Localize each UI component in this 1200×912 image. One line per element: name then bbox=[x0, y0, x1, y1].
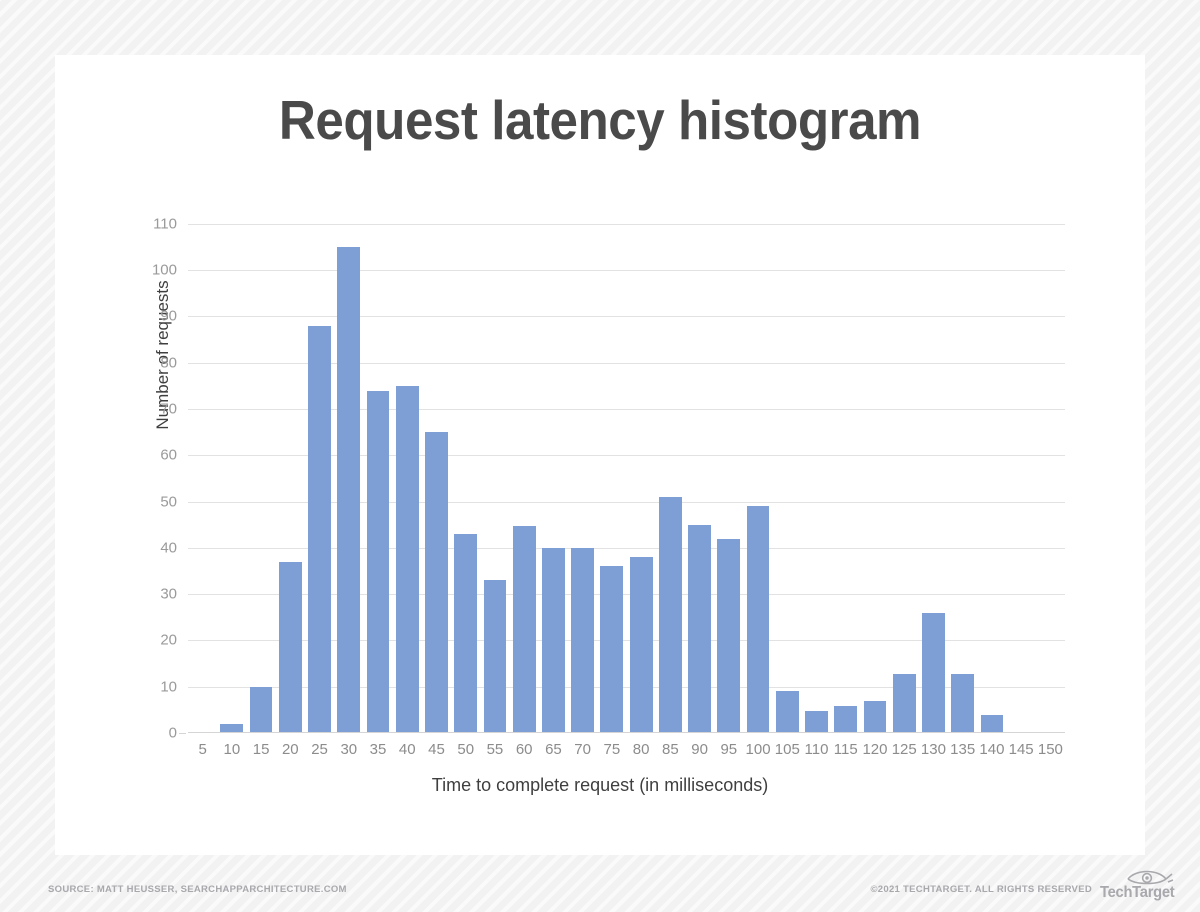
eye-icon bbox=[1126, 866, 1174, 886]
y-tick-label: 10 bbox=[160, 678, 177, 695]
y-tick-label: 0 bbox=[169, 725, 177, 742]
y-tick-label: 90 bbox=[160, 308, 177, 325]
x-tick-label: 145 bbox=[1009, 741, 1034, 758]
y-tick-label: 60 bbox=[160, 447, 177, 464]
x-tick-label: 120 bbox=[862, 741, 887, 758]
page-title: Request latency histogram bbox=[93, 88, 1107, 152]
bar bbox=[396, 386, 419, 733]
y-tick-label: 50 bbox=[160, 493, 177, 510]
bar bbox=[425, 432, 448, 733]
bar bbox=[513, 526, 536, 733]
x-tick-label: 25 bbox=[311, 741, 328, 758]
bar bbox=[250, 687, 273, 733]
x-tick-label: 5 bbox=[198, 741, 206, 758]
x-tick-label: 30 bbox=[340, 741, 357, 758]
bar bbox=[542, 548, 565, 733]
x-axis-title: Time to complete request (in millisecond… bbox=[55, 775, 1145, 796]
y-tick-label: 20 bbox=[160, 632, 177, 649]
bar bbox=[367, 391, 390, 733]
bar bbox=[484, 580, 507, 733]
x-tick-label: 75 bbox=[604, 741, 621, 758]
bar bbox=[805, 711, 828, 733]
logo-wordmark: TechTarget bbox=[1100, 884, 1174, 902]
x-tick-label: 70 bbox=[574, 741, 591, 758]
x-tick-label: 50 bbox=[457, 741, 474, 758]
x-tick-label: 95 bbox=[720, 741, 737, 758]
y-tick-mark bbox=[179, 733, 186, 734]
bar bbox=[776, 691, 799, 733]
y-tick-label: 100 bbox=[152, 262, 177, 279]
x-tick-label: 150 bbox=[1038, 741, 1063, 758]
bar bbox=[893, 674, 916, 733]
bar bbox=[308, 326, 331, 733]
techtarget-logo: TechTarget bbox=[1100, 866, 1186, 904]
bar bbox=[630, 557, 653, 733]
bar bbox=[951, 674, 974, 733]
x-tick-label: 85 bbox=[662, 741, 679, 758]
x-tick-label: 140 bbox=[979, 741, 1004, 758]
x-tick-label: 90 bbox=[691, 741, 708, 758]
bar bbox=[571, 548, 594, 733]
bar-series: 5101520253035404550556065707580859095100… bbox=[188, 210, 1065, 733]
bar bbox=[981, 715, 1004, 734]
x-tick-label: 80 bbox=[633, 741, 650, 758]
bar bbox=[864, 701, 887, 733]
x-tick-label: 105 bbox=[775, 741, 800, 758]
x-tick-label: 115 bbox=[834, 741, 858, 758]
bar bbox=[717, 539, 740, 733]
axis-baseline bbox=[188, 732, 1065, 733]
x-tick-label: 40 bbox=[399, 741, 416, 758]
x-tick-label: 15 bbox=[253, 741, 270, 758]
source-note: SOURCE: MATT HEUSSER, SEARCHAPPARCHITECT… bbox=[48, 884, 347, 895]
bar bbox=[337, 247, 360, 733]
bar bbox=[747, 506, 770, 733]
x-tick-label: 45 bbox=[428, 741, 445, 758]
x-tick-label: 55 bbox=[487, 741, 504, 758]
plot-area: 0102030405060708090100110 51015202530354… bbox=[188, 210, 1065, 733]
x-tick-label: 60 bbox=[516, 741, 533, 758]
bar bbox=[600, 566, 623, 733]
x-tick-label: 10 bbox=[224, 741, 241, 758]
bar bbox=[922, 613, 945, 733]
bar bbox=[279, 562, 302, 733]
x-tick-label: 35 bbox=[370, 741, 387, 758]
x-tick-label: 20 bbox=[282, 741, 299, 758]
chart-card: Request latency histogram Number of requ… bbox=[55, 55, 1145, 855]
bar bbox=[454, 534, 477, 733]
x-tick-label: 125 bbox=[892, 741, 917, 758]
x-tick-label: 130 bbox=[921, 741, 946, 758]
y-tick-label: 30 bbox=[160, 586, 177, 603]
y-tick-label: 110 bbox=[153, 215, 177, 232]
x-tick-label: 65 bbox=[545, 741, 562, 758]
copyright-note: ©2021 TECHTARGET. ALL RIGHTS RESERVED bbox=[870, 884, 1092, 895]
y-tick-label: 70 bbox=[160, 401, 177, 418]
bar bbox=[688, 525, 711, 733]
bar bbox=[834, 706, 857, 733]
y-tick-label: 80 bbox=[160, 354, 177, 371]
x-tick-label: 110 bbox=[805, 741, 829, 758]
y-tick-label: 40 bbox=[160, 539, 177, 556]
bar bbox=[659, 497, 682, 733]
x-tick-label: 100 bbox=[746, 741, 771, 758]
x-tick-label: 135 bbox=[950, 741, 975, 758]
page-root: Request latency histogram Number of requ… bbox=[0, 0, 1200, 912]
